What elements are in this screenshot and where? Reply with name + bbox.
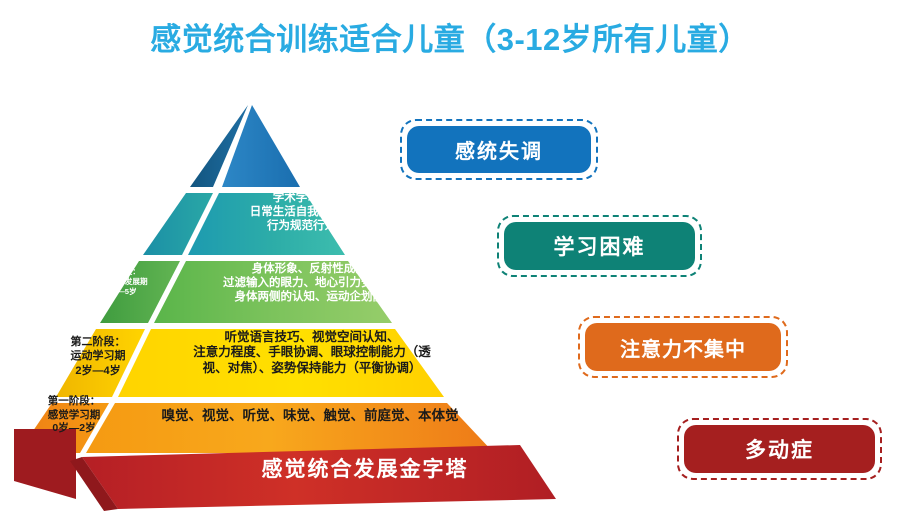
pyramid-layer-3 [100, 261, 392, 323]
badge-learning-difficulty-label: 学习困难 [504, 222, 695, 270]
pyramid-layer-2 [56, 329, 444, 397]
badge-learning-difficulty[interactable]: 学习困难 [497, 215, 702, 277]
pyramid-layer-4 [143, 193, 345, 255]
badge-adhd[interactable]: 多动症 [677, 418, 882, 480]
pyramid-apex [190, 105, 300, 187]
badge-inattention-label: 注意力不集中 [585, 323, 781, 371]
badge-sensory-disorder-label: 感统失调 [407, 126, 591, 173]
badge-inattention[interactable]: 注意力不集中 [578, 316, 788, 378]
page-title: 感觉统合训练适合儿童（3-12岁所有儿童） [0, 14, 900, 59]
pyramid-layer-1 [18, 403, 494, 453]
badge-adhd-label: 多动症 [684, 425, 875, 473]
badge-sensory-disorder[interactable]: 感统失调 [400, 119, 598, 180]
